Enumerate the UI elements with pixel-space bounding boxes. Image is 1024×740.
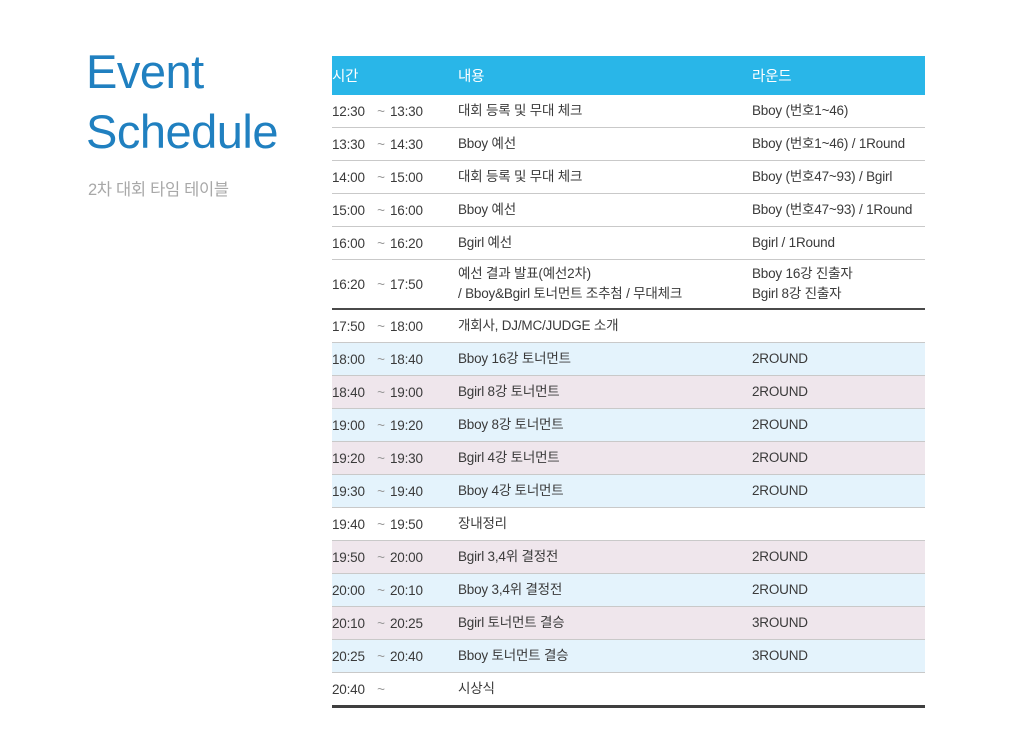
time-end: 19:00 [390,385,430,400]
cell-content: 예선 결과 발표(예선2차) / Bboy&Bgirl 토너먼트 조추첨 / 무… [458,260,752,310]
time-start: 19:40 [332,517,372,532]
time-separator: ~ [372,451,390,466]
time-start: 19:30 [332,484,372,499]
cell-round: 3ROUND [752,640,925,673]
page-subtitle: 2차 대회 타임 테이블 [88,176,322,200]
time-separator: ~ [372,137,390,152]
time-end: 19:30 [390,451,430,466]
cell-time: 20:00~20:10 [332,574,458,607]
cell-content: Bboy 예선 [458,128,752,161]
cell-time: 20:10~20:25 [332,607,458,640]
cell-round: 2ROUND [752,475,925,508]
table-row: 19:50~20:00Bgirl 3,4위 결정전2ROUND [332,541,925,574]
time-start: 17:50 [332,319,372,334]
time-end: 16:20 [390,236,430,251]
cell-time: 19:40~19:50 [332,508,458,541]
table-row: 16:00~16:20Bgirl 예선Bgirl / 1Round [332,227,925,260]
time-start: 18:40 [332,385,372,400]
cell-time: 17:50~18:00 [332,309,458,343]
table-row: 20:40~시상식 [332,673,925,707]
time-separator: ~ [372,319,390,334]
time-separator: ~ [372,484,390,499]
table-row: 20:25~20:40Bboy 토너먼트 결승3ROUND [332,640,925,673]
column-header-time: 시간 [332,56,458,95]
time-separator: ~ [372,649,390,664]
time-separator: ~ [372,616,390,631]
table-header-row: 시간 내용 라운드 [332,56,925,95]
cell-content: 대회 등록 및 무대 체크 [458,95,752,128]
cell-time: 19:00~19:20 [332,409,458,442]
time-start: 20:10 [332,616,372,631]
cell-time: 19:50~20:00 [332,541,458,574]
table-header: 시간 내용 라운드 [332,56,925,95]
time-end: 19:40 [390,484,430,499]
time-end: 20:25 [390,616,430,631]
cell-round: Bgirl / 1Round [752,227,925,260]
time-end: 16:00 [390,203,430,218]
cell-time: 20:25~20:40 [332,640,458,673]
time-end: 18:00 [390,319,430,334]
cell-content: Bboy 3,4위 결정전 [458,574,752,607]
cell-content: Bgirl 예선 [458,227,752,260]
time-end: 20:40 [390,649,430,664]
time-start: 16:20 [332,277,372,292]
cell-content: 장내정리 [458,508,752,541]
table-row: 15:00~16:00Bboy 예선Bboy (번호47~93) / 1Roun… [332,194,925,227]
table-row: 17:50~18:00개회사, DJ/MC/JUDGE 소개 [332,309,925,343]
time-separator: ~ [372,385,390,400]
title-block: Event Schedule 2차 대회 타임 테이블 [86,42,322,200]
table-row: 14:00~15:00대회 등록 및 무대 체크Bboy (번호47~93) /… [332,161,925,194]
cell-time: 12:30~13:30 [332,95,458,128]
time-separator: ~ [372,682,390,697]
cell-content: Bgirl 토너먼트 결승 [458,607,752,640]
cell-content: Bboy 8강 토너먼트 [458,409,752,442]
table-body: 12:30~13:30대회 등록 및 무대 체크Bboy (번호1~46)13:… [332,95,925,707]
time-start: 12:30 [332,104,372,119]
time-separator: ~ [372,583,390,598]
table-row: 20:10~20:25Bgirl 토너먼트 결승3ROUND [332,607,925,640]
cell-round: 2ROUND [752,541,925,574]
cell-content: Bboy 예선 [458,194,752,227]
time-start: 19:50 [332,550,372,565]
cell-round: Bboy (번호1~46) [752,95,925,128]
table-row: 18:40~19:00Bgirl 8강 토너먼트2ROUND [332,376,925,409]
time-start: 18:00 [332,352,372,367]
schedule-table: 시간 내용 라운드 12:30~13:30대회 등록 및 무대 체크Bboy (… [332,56,925,708]
cell-round: 2ROUND [752,442,925,475]
cell-round: 2ROUND [752,343,925,376]
table-row: 19:40~19:50장내정리 [332,508,925,541]
time-start: 15:00 [332,203,372,218]
time-start: 19:00 [332,418,372,433]
cell-round [752,673,925,707]
table-row: 20:00~20:10Bboy 3,4위 결정전2ROUND [332,574,925,607]
column-header-content: 내용 [458,56,752,95]
cell-round: 2ROUND [752,376,925,409]
cell-time: 13:30~14:30 [332,128,458,161]
cell-time: 20:40~ [332,673,458,707]
time-separator: ~ [372,236,390,251]
time-separator: ~ [372,203,390,218]
time-end: 19:20 [390,418,430,433]
time-start: 19:20 [332,451,372,466]
cell-content: 개회사, DJ/MC/JUDGE 소개 [458,309,752,343]
cell-time: 19:20~19:30 [332,442,458,475]
time-separator: ~ [372,517,390,532]
cell-time: 19:30~19:40 [332,475,458,508]
table-row: 13:30~14:30Bboy 예선Bboy (번호1~46) / 1Round [332,128,925,161]
table-row: 18:00~18:40Bboy 16강 토너먼트2ROUND [332,343,925,376]
time-separator: ~ [372,170,390,185]
cell-round: Bboy 16강 진출자 Bgirl 8강 진출자 [752,260,925,310]
table-row: 19:20~19:30Bgirl 4강 토너먼트2ROUND [332,442,925,475]
cell-content: Bgirl 8강 토너먼트 [458,376,752,409]
cell-round: Bboy (번호47~93) / 1Round [752,194,925,227]
time-start: 14:00 [332,170,372,185]
time-end: 20:00 [390,550,430,565]
time-end: 18:40 [390,352,430,367]
cell-content: 시상식 [458,673,752,707]
cell-content: Bboy 4강 토너먼트 [458,475,752,508]
time-separator: ~ [372,352,390,367]
time-separator: ~ [372,550,390,565]
cell-time: 14:00~15:00 [332,161,458,194]
time-end: 14:30 [390,137,430,152]
page-title: Event Schedule [86,42,322,162]
table-row: 19:00~19:20Bboy 8강 토너먼트2ROUND [332,409,925,442]
table-row: 12:30~13:30대회 등록 및 무대 체크Bboy (번호1~46) [332,95,925,128]
cell-round [752,309,925,343]
cell-time: 18:40~19:00 [332,376,458,409]
cell-time: 15:00~16:00 [332,194,458,227]
time-separator: ~ [372,104,390,119]
cell-content: Bboy 16강 토너먼트 [458,343,752,376]
time-end: 17:50 [390,277,430,292]
table-row: 19:30~19:40Bboy 4강 토너먼트2ROUND [332,475,925,508]
table-row: 16:20~17:50예선 결과 발표(예선2차) / Bboy&Bgirl 토… [332,260,925,310]
time-separator: ~ [372,277,390,292]
time-start: 20:40 [332,682,372,697]
time-start: 20:25 [332,649,372,664]
cell-content: 대회 등록 및 무대 체크 [458,161,752,194]
time-end: 20:10 [390,583,430,598]
cell-round: Bboy (번호1~46) / 1Round [752,128,925,161]
time-start: 13:30 [332,137,372,152]
time-end: 13:30 [390,104,430,119]
column-header-round: 라운드 [752,56,925,95]
time-start: 20:00 [332,583,372,598]
cell-round: 2ROUND [752,409,925,442]
cell-round: Bboy (번호47~93) / Bgirl [752,161,925,194]
cell-time: 16:00~16:20 [332,227,458,260]
cell-round: 2ROUND [752,574,925,607]
time-end: 19:50 [390,517,430,532]
cell-content: Bboy 토너먼트 결승 [458,640,752,673]
cell-time: 18:00~18:40 [332,343,458,376]
time-start: 16:00 [332,236,372,251]
cell-round: 3ROUND [752,607,925,640]
cell-time: 16:20~17:50 [332,260,458,310]
cell-content: Bgirl 4강 토너먼트 [458,442,752,475]
time-separator: ~ [372,418,390,433]
cell-round [752,508,925,541]
time-end: 15:00 [390,170,430,185]
cell-content: Bgirl 3,4위 결정전 [458,541,752,574]
